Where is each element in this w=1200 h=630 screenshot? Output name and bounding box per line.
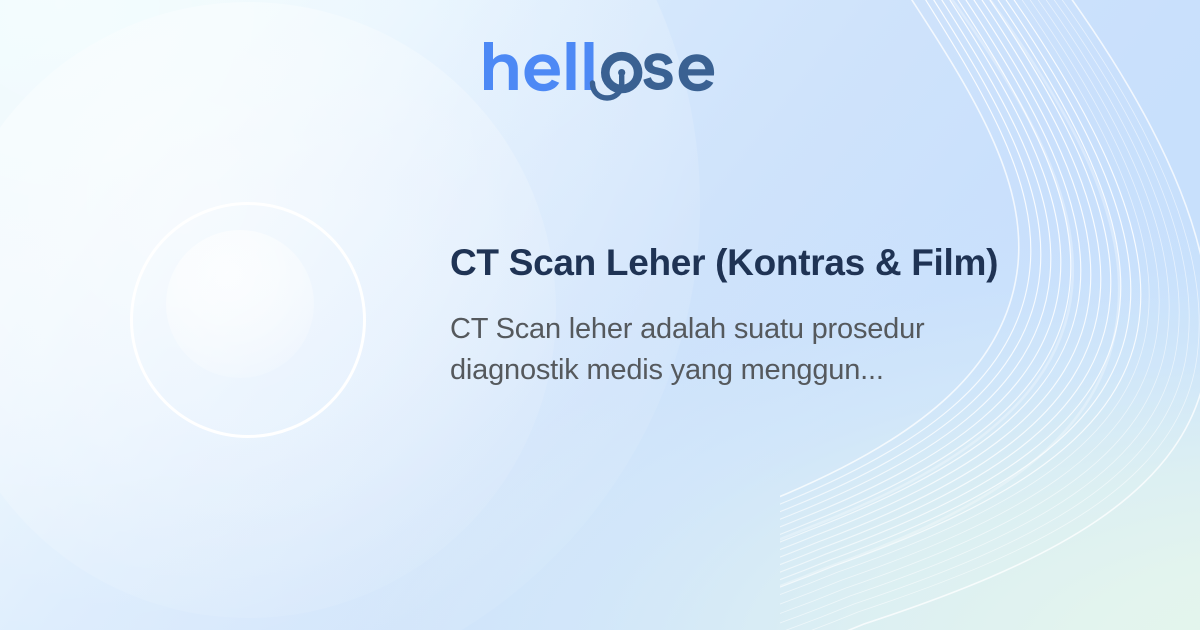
- page-description: CT Scan leher adalah suatu prosedur diag…: [450, 309, 1010, 391]
- text-content: CT Scan Leher (Kontras & Film) CT Scan l…: [450, 240, 1050, 391]
- logo-text-dark: [643, 53, 714, 91]
- logo-text-light: [484, 42, 594, 91]
- hellosehat-logo[interactable]: [480, 38, 720, 102]
- page-title: CT Scan Leher (Kontras & Film): [450, 240, 1050, 286]
- circle-inner-sphere: [166, 230, 314, 378]
- logo[interactable]: [0, 38, 1200, 102]
- social-share-card: CT Scan Leher (Kontras & Film) CT Scan l…: [0, 0, 1200, 630]
